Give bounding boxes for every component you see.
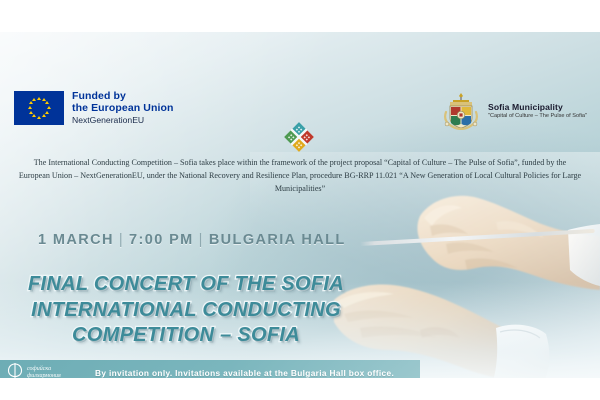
eu-star-icon (32, 98, 36, 101)
headline-line-3: COMPETITION – SOFIA (0, 323, 372, 349)
eu-funding-line2: the European Union (72, 102, 174, 114)
eu-funding-line1: Funded by (72, 90, 174, 102)
event-time: 7:00 PM (129, 232, 194, 248)
sofia-municipality-subtitle: "Capital of Culture – The Pulse of Sofia… (488, 113, 587, 119)
eu-star-icon (37, 97, 41, 100)
eu-star-icon (29, 101, 33, 104)
sofia-municipality-logo: Sofia Municipality "Capital of Culture –… (440, 90, 587, 130)
sofia-coat-of-arms-icon (440, 90, 482, 130)
philharmonic-name: софийска филхармония (27, 366, 61, 379)
eu-funding-logo: Funded by the European Union NextGenerat… (14, 90, 174, 126)
eu-star-icon (29, 111, 33, 114)
event-poster: Funded by the European Union NextGenerat… (0, 32, 600, 378)
eu-funding-text: Funded by the European Union NextGenerat… (72, 90, 174, 126)
eu-star-icon (45, 111, 49, 114)
philharmonic-name-line2: филхармония (27, 373, 61, 378)
invitation-note: By invitation only. Invitations availabl… (95, 368, 394, 378)
footer-bar: By invitation only. Invitations availabl… (0, 360, 420, 378)
shirt-cuff (492, 325, 549, 378)
event-details-line: 1 MARCH|7:00 PM|BULGARIA HALL (38, 232, 346, 248)
eu-flag-icon (14, 91, 64, 125)
eu-funding-line3: NextGenerationEU (72, 116, 174, 126)
eu-star-icon (32, 114, 36, 117)
event-separator-1: | (114, 232, 129, 248)
event-venue: BULGARIA HALL (209, 232, 346, 248)
eu-star-icon (47, 106, 51, 109)
eu-star-icon (37, 116, 41, 119)
page-title: FINAL CONCERT OF THE SOFIA INTERNATIONAL… (0, 272, 372, 349)
eu-star-icon (42, 114, 46, 117)
philharmonic-name-line1: софийска (27, 366, 61, 374)
project-blurb: The International Conducting Competition… (18, 156, 582, 195)
sofia-philharmonic-monogram-icon (6, 362, 24, 378)
eu-star-icon (28, 106, 32, 109)
sofia-municipality-title: Sofia Municipality (488, 102, 587, 112)
sofia-culture-diamond-icon (281, 122, 317, 152)
event-separator-2: | (194, 232, 209, 248)
headline-line-2: INTERNATIONAL CONDUCTING (0, 298, 372, 324)
eu-star-icon (45, 101, 49, 104)
event-date: 1 MARCH (38, 232, 114, 248)
headline-line-1: FINAL CONCERT OF THE SOFIA (0, 272, 372, 298)
sofia-municipality-text: Sofia Municipality "Capital of Culture –… (488, 102, 587, 119)
sofia-philharmonic-logo: софийска филхармония (6, 362, 61, 378)
